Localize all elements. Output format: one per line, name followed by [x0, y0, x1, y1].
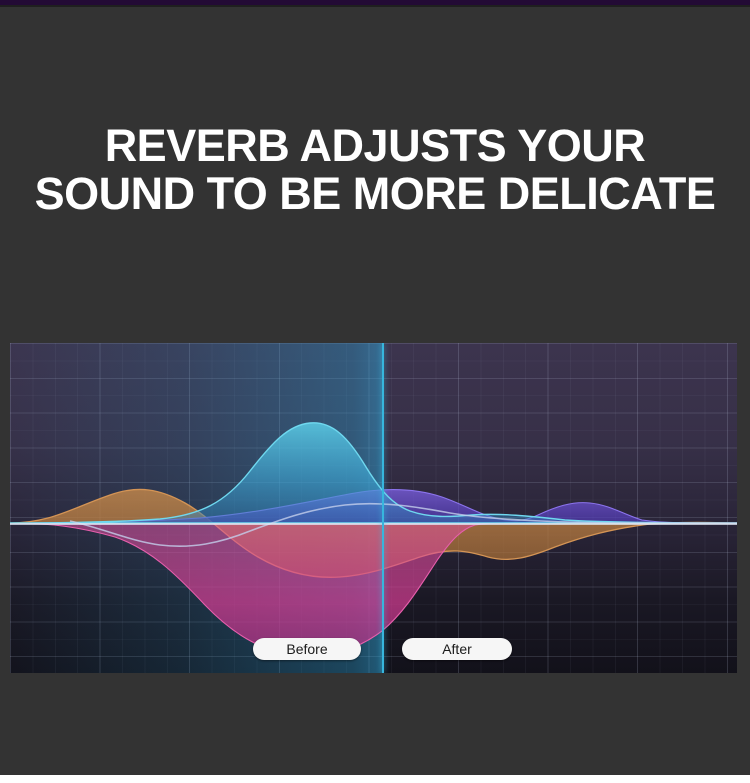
after-button[interactable]: After	[402, 638, 512, 660]
page-root: REVERB ADJUSTS YOUR SOUND TO BE MORE DEL…	[0, 0, 750, 783]
curve-magenta-trough	[10, 523, 737, 656]
reverb-waveform-visualizer[interactable]	[10, 343, 737, 673]
waveform-curves	[10, 343, 737, 673]
page-title-line-2: SOUND TO BE MORE DELICATE	[0, 170, 750, 218]
before-button[interactable]: Before	[253, 638, 361, 660]
page-title-line-1: REVERB ADJUSTS YOUR	[0, 122, 750, 170]
page-title: REVERB ADJUSTS YOUR SOUND TO BE MORE DEL…	[0, 122, 750, 218]
